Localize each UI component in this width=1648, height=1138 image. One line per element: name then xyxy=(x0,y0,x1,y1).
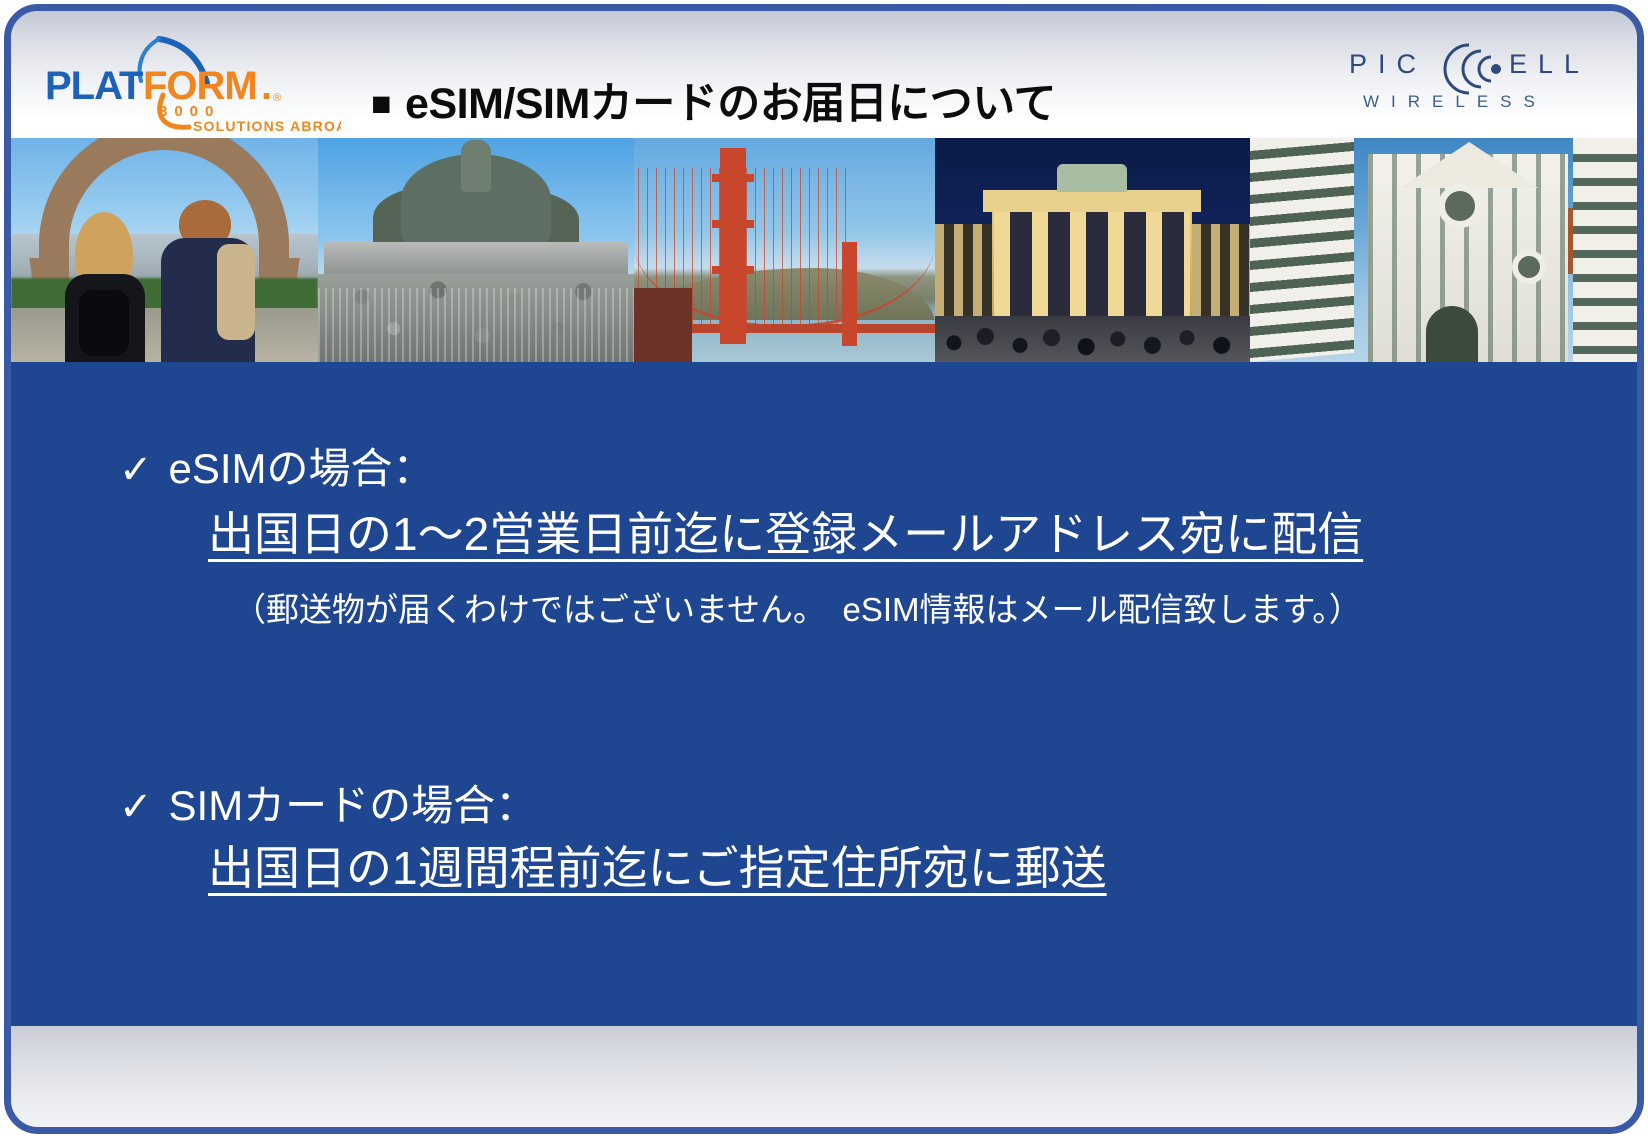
bullet-square-icon: ■ xyxy=(371,85,391,123)
svg-text:WIRELESS: WIRELESS xyxy=(1363,92,1547,111)
slide-footer xyxy=(11,1026,1637,1127)
simcard-section-heading: ✓SIMカードの場合： xyxy=(119,785,537,827)
svg-text:SOLUTIONS ABROAD: SOLUTIONS ABROAD xyxy=(193,118,341,133)
esim-section-heading-text: eSIMの場合： xyxy=(169,445,435,492)
check-icon: ✓ xyxy=(119,448,153,492)
svg-text:FORM: FORM xyxy=(143,64,257,108)
photo-gefion-fountain xyxy=(318,138,634,362)
platform3000-logo: PLAT FORM . ® 3000 SOLUTIONS ABROAD xyxy=(41,33,341,133)
page-title-text: eSIM/SIMカードのお届日について xyxy=(405,80,1056,128)
esim-delivery-note: （郵送物が届くわけではございません。 eSIM情報はメール配信致します。） xyxy=(233,593,1362,626)
simcard-section-heading-text: SIMカードの場合： xyxy=(169,782,538,829)
svg-text:®: ® xyxy=(273,92,281,104)
slide-header: PLAT FORM . ® 3000 SOLUTIONS ABROAD ■eSI… xyxy=(11,11,1637,138)
svg-text:PIC: PIC xyxy=(1349,49,1427,79)
simcard-delivery-statement: 出国日の1週間程前迄にご指定住所宛に郵送 xyxy=(208,845,1107,891)
piccell-wireless-logo: PIC ELL WIRELESS xyxy=(1341,33,1601,115)
esim-delivery-statement: 出国日の1～2営業日前迄に登録メールアドレス宛に配信 xyxy=(208,511,1363,557)
photo-brandenburg-gate xyxy=(935,138,1251,362)
check-icon: ✓ xyxy=(119,785,153,829)
svg-text:ELL: ELL xyxy=(1509,49,1590,79)
svg-text:PLAT: PLAT xyxy=(45,64,143,108)
slide: PLAT FORM . ® 3000 SOLUTIONS ABROAD ■eSI… xyxy=(0,0,1648,1138)
photo-eiffel-tower-tourists xyxy=(11,138,318,362)
slide-frame: PLAT FORM . ® 3000 SOLUTIONS ABROAD ■eSI… xyxy=(4,4,1644,1134)
photo-strip xyxy=(11,138,1637,362)
page-title: ■eSIM/SIMカードのお届日について xyxy=(371,69,1311,131)
photo-florence-duomo xyxy=(1250,138,1637,362)
photo-golden-gate-bridge xyxy=(634,138,935,362)
svg-text:.: . xyxy=(261,64,272,108)
esim-section-heading: ✓eSIMの場合： xyxy=(119,448,435,490)
